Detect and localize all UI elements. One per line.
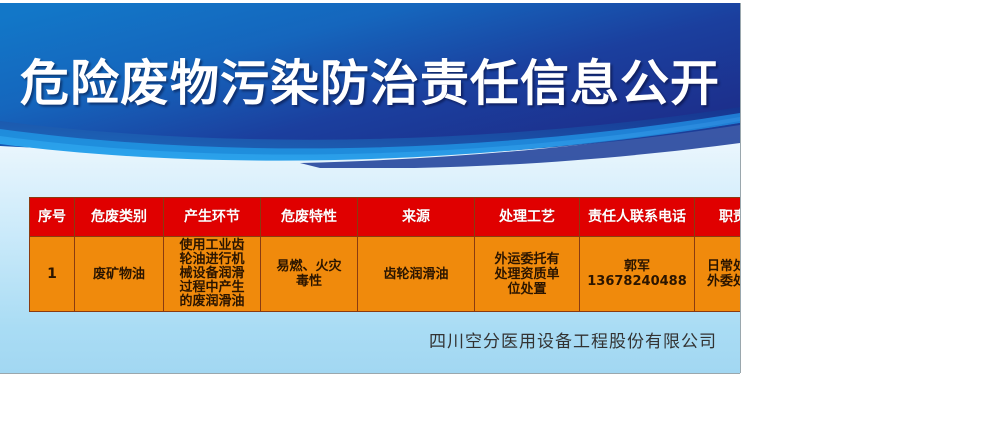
table-header-row: 序号 危废类别 产生环节 危废特性 来源 处理工艺 责任人联系电话 职责 [30,198,741,237]
col-header-category: 危废类别 [75,198,164,237]
generation-line-3: 械设备润滑 [167,267,257,281]
col-header-contact: 责任人联系电话 [580,198,695,237]
table-body: 1 废矿物油 使用工业齿 轮油进行机 械设备润滑 过程中产生 的废润滑油 易燃、… [30,237,741,312]
col-header-duty: 职责 [695,198,741,237]
cell-treatment-process: 外运委托有 处理资质单 位处置 [475,237,580,312]
hazardous-waste-table: 序号 危废类别 产生环节 危废特性 来源 处理工艺 责任人联系电话 职责 1 废… [29,197,740,312]
responsible-person-name: 郭军 [583,259,691,274]
duty-line-2: 外委处理 [698,274,740,289]
generation-line-2: 轮油进行机 [167,253,257,267]
cell-responsible-contact: 郭军 13678240488 [580,237,695,312]
duty-line-1: 日常处理 [698,259,740,274]
table-row: 1 废矿物油 使用工业齿 轮油进行机 械设备润滑 过程中产生 的废润滑油 易燃、… [30,237,741,312]
poster: 危险废物污染防治责任信息公开 序号 危废类别 产生环节 危废特性 来源 处理工艺… [0,3,740,373]
cell-seq: 1 [30,237,75,312]
cell-characteristics: 易燃、火灾 毒性 [261,237,358,312]
page-title: 危险废物污染防治责任信息公开 [0,55,740,113]
treatment-line-3: 位处置 [478,282,576,297]
generation-line-1: 使用工业齿 [167,239,257,253]
cell-category: 废矿物油 [75,237,164,312]
col-header-treatment: 处理工艺 [475,198,580,237]
treatment-line-1: 外运委托有 [478,252,576,267]
col-header-characteristic: 危废特性 [261,198,358,237]
cell-generation-stage: 使用工业齿 轮油进行机 械设备润滑 过程中产生 的废润滑油 [164,237,261,312]
characteristics-line-1: 易燃、火灾 [264,259,354,274]
generation-line-5: 的废润滑油 [167,295,257,309]
table-header: 序号 危废类别 产生环节 危废特性 来源 处理工艺 责任人联系电话 职责 [30,198,741,237]
responsible-person-phone: 13678240488 [583,274,691,289]
generation-line-4: 过程中产生 [167,281,257,295]
company-name: 四川空分医用设备工程股份有限公司 [0,331,717,353]
cell-duty: 日常处理 外委处理 [695,237,741,312]
col-header-generation: 产生环节 [164,198,261,237]
characteristics-line-2: 毒性 [264,274,354,289]
treatment-line-2: 处理资质单 [478,267,576,282]
cell-source: 齿轮润滑油 [358,237,475,312]
col-header-seq: 序号 [30,198,75,237]
col-header-source: 来源 [358,198,475,237]
